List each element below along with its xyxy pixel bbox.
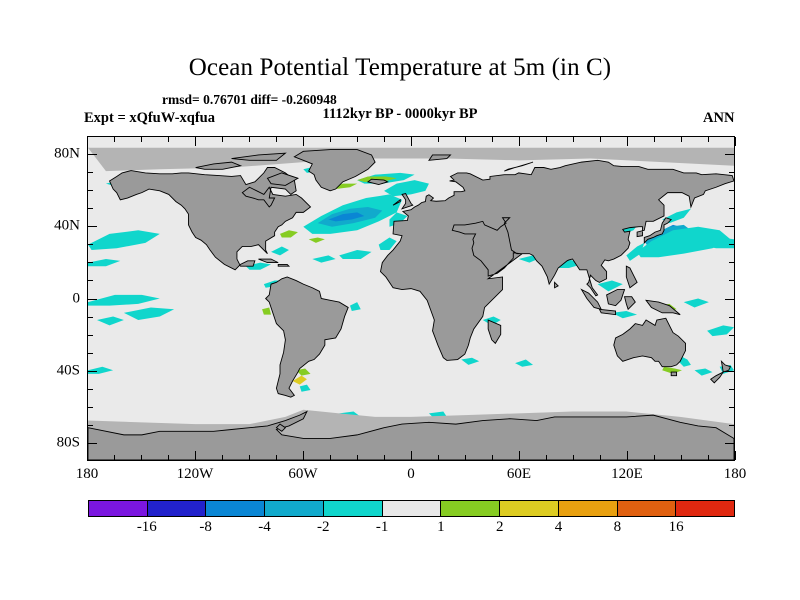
- axis-tick: [438, 137, 439, 142]
- colorbar-tick-label: -2: [317, 519, 330, 536]
- landmass: [581, 290, 601, 310]
- axis-tick: [729, 335, 734, 336]
- experiment-label: Expt = xQfuW-xqfua: [84, 110, 215, 127]
- x-tick-label: 180: [724, 466, 747, 483]
- anomaly-patch: [515, 360, 533, 367]
- y-tick-label: 80S: [36, 434, 80, 451]
- axis-tick: [729, 172, 734, 173]
- colorbar-cell: [558, 501, 617, 516]
- axis-tick: [573, 455, 574, 460]
- axis-tick: [729, 353, 734, 354]
- axis-tick: [88, 280, 93, 281]
- axis-tick: [195, 451, 196, 460]
- landmass: [555, 282, 559, 287]
- axis-tick: [492, 455, 493, 460]
- axis-tick: [492, 137, 493, 142]
- colorbar-tick-label: -1: [376, 519, 389, 536]
- axis-tick: [222, 455, 223, 460]
- landmass: [488, 320, 501, 343]
- axis-tick: [708, 137, 709, 142]
- axis-tick: [88, 299, 97, 300]
- anomaly-patch: [280, 230, 298, 237]
- colorbar-cell: [617, 501, 676, 516]
- colorbar-tick-label: 8: [614, 519, 622, 536]
- axis-tick: [249, 137, 250, 142]
- axis-tick: [725, 299, 734, 300]
- colorbar-tick-label: -8: [199, 519, 212, 536]
- landmass: [599, 309, 615, 314]
- axis-tick: [88, 172, 93, 173]
- landmass: [266, 277, 349, 397]
- axis-tick: [114, 137, 115, 142]
- chart-title: Ocean Potential Temperature at 5m (in C): [0, 54, 800, 82]
- landmass: [646, 300, 680, 314]
- axis-tick: [729, 280, 734, 281]
- landmass: [504, 162, 533, 171]
- axis-tick: [465, 137, 466, 142]
- axis-tick: [438, 455, 439, 460]
- colorbar-cell: [499, 501, 558, 516]
- axis-tick: [168, 455, 169, 460]
- axis-tick: [114, 455, 115, 460]
- axis-tick: [681, 137, 682, 142]
- axis-tick: [88, 353, 93, 354]
- anomaly-patch: [88, 295, 160, 306]
- axis-tick: [627, 137, 628, 146]
- landmass: [278, 264, 289, 266]
- colorbar-cell: [205, 501, 264, 516]
- landmass: [402, 194, 413, 209]
- axis-tick: [88, 208, 93, 209]
- colorbar: [88, 500, 735, 517]
- x-tick-label: 60E: [507, 466, 531, 483]
- axis-tick: [88, 443, 97, 444]
- axis-tick: [546, 455, 547, 460]
- axis-tick: [88, 244, 93, 245]
- axis-tick: [88, 425, 93, 426]
- anomaly-patch: [262, 307, 271, 314]
- axis-tick: [88, 190, 93, 191]
- colorbar-tick-label: 16: [669, 519, 684, 536]
- axis-tick: [168, 137, 169, 142]
- axis-tick: [276, 137, 277, 142]
- landmass: [380, 160, 734, 360]
- colorbar-cell: [440, 501, 499, 516]
- axis-tick: [654, 137, 655, 142]
- colorbar-tick-label: 4: [555, 519, 563, 536]
- landmass: [429, 155, 451, 160]
- axis-tick: [88, 262, 93, 263]
- axis-tick: [681, 455, 682, 460]
- landmass: [614, 318, 686, 366]
- colorbar-cell: [264, 501, 323, 516]
- axis-tick: [735, 137, 736, 146]
- axis-tick: [88, 371, 97, 372]
- world-map: [88, 137, 734, 460]
- axis-tick: [88, 154, 97, 155]
- colorbar-tick-label: 1: [437, 519, 445, 536]
- axis-tick: [735, 451, 736, 460]
- colorbar-cell: [382, 501, 441, 516]
- colorbar-cell: [323, 501, 382, 516]
- axis-tick: [141, 455, 142, 460]
- anomaly-patch: [124, 307, 174, 320]
- axis-tick: [725, 226, 734, 227]
- anomaly-patch: [384, 180, 429, 196]
- anomaly-patch: [461, 358, 479, 365]
- axis-tick: [276, 455, 277, 460]
- anomaly-patch: [312, 255, 335, 262]
- map-plot-area: [87, 136, 735, 461]
- axis-tick: [357, 455, 358, 460]
- axis-tick: [88, 317, 93, 318]
- landmass: [258, 259, 278, 263]
- axis-tick: [384, 137, 385, 142]
- y-tick-label: 40N: [36, 218, 80, 235]
- axis-tick: [654, 455, 655, 460]
- axis-tick: [88, 226, 97, 227]
- axis-tick: [729, 190, 734, 191]
- axis-tick: [729, 208, 734, 209]
- axis-tick: [303, 137, 304, 146]
- anomaly-patch: [339, 250, 371, 259]
- anomaly-patch: [695, 368, 713, 375]
- axis-tick: [725, 371, 734, 372]
- landmass: [671, 372, 676, 376]
- colorbar-cell: [89, 501, 147, 516]
- colorbar-tick-label: 2: [496, 519, 504, 536]
- axis-tick: [411, 451, 412, 460]
- season-label: ANN: [703, 110, 734, 127]
- axis-tick: [411, 137, 412, 146]
- axis-tick: [88, 407, 93, 408]
- anomaly-patch: [350, 302, 361, 311]
- axis-tick: [627, 451, 628, 460]
- axis-tick: [141, 137, 142, 142]
- landmass: [711, 372, 724, 383]
- axis-tick: [330, 137, 331, 142]
- axis-tick: [519, 137, 520, 146]
- landmass: [607, 290, 625, 306]
- axis-tick: [600, 137, 601, 142]
- x-tick-label: 60W: [288, 466, 317, 483]
- axis-tick: [87, 137, 88, 146]
- y-tick-label: 80N: [36, 146, 80, 163]
- x-tick-label: 180: [76, 466, 99, 483]
- axis-tick: [330, 455, 331, 460]
- axis-tick: [600, 455, 601, 460]
- x-tick-label: 120E: [611, 466, 643, 483]
- axis-tick: [729, 244, 734, 245]
- landmass: [625, 297, 636, 310]
- axis-tick: [222, 137, 223, 142]
- axis-tick: [729, 407, 734, 408]
- axis-tick: [88, 389, 93, 390]
- anomaly-patch: [309, 237, 325, 242]
- colorbar-cell: [675, 501, 734, 516]
- anomaly-patch: [97, 316, 124, 325]
- anomaly-patch: [88, 230, 160, 250]
- colorbar-tick-label: -4: [258, 519, 271, 536]
- axis-tick: [725, 154, 734, 155]
- axis-tick: [729, 389, 734, 390]
- y-tick-label: 0: [36, 290, 80, 307]
- landmass: [368, 179, 388, 184]
- axis-tick: [465, 455, 466, 460]
- axis-tick: [357, 137, 358, 142]
- axis-tick: [87, 451, 88, 460]
- colorbar-cell: [147, 501, 206, 516]
- axis-tick: [573, 137, 574, 142]
- axis-tick: [88, 335, 93, 336]
- axis-tick: [519, 451, 520, 460]
- anomaly-patch: [684, 299, 709, 308]
- axis-tick: [195, 137, 196, 146]
- axis-tick: [249, 455, 250, 460]
- axis-tick: [546, 137, 547, 142]
- axis-tick: [708, 455, 709, 460]
- landmass: [626, 266, 637, 288]
- land-layer: [88, 148, 734, 460]
- axis-tick: [729, 317, 734, 318]
- colorbar-tick-label: -16: [137, 519, 157, 536]
- anomaly-patch: [300, 385, 311, 392]
- anomaly-patch: [379, 237, 397, 250]
- axis-tick: [729, 262, 734, 263]
- y-tick-label: 40S: [36, 362, 80, 379]
- x-tick-label: 120W: [177, 466, 214, 483]
- axis-tick: [725, 443, 734, 444]
- axis-tick: [729, 425, 734, 426]
- figure-canvas: Ocean Potential Temperature at 5m (in C)…: [0, 0, 800, 600]
- x-tick-label: 0: [407, 466, 415, 483]
- axis-tick: [303, 451, 304, 460]
- axis-tick: [384, 455, 385, 460]
- anomaly-patch: [271, 246, 289, 255]
